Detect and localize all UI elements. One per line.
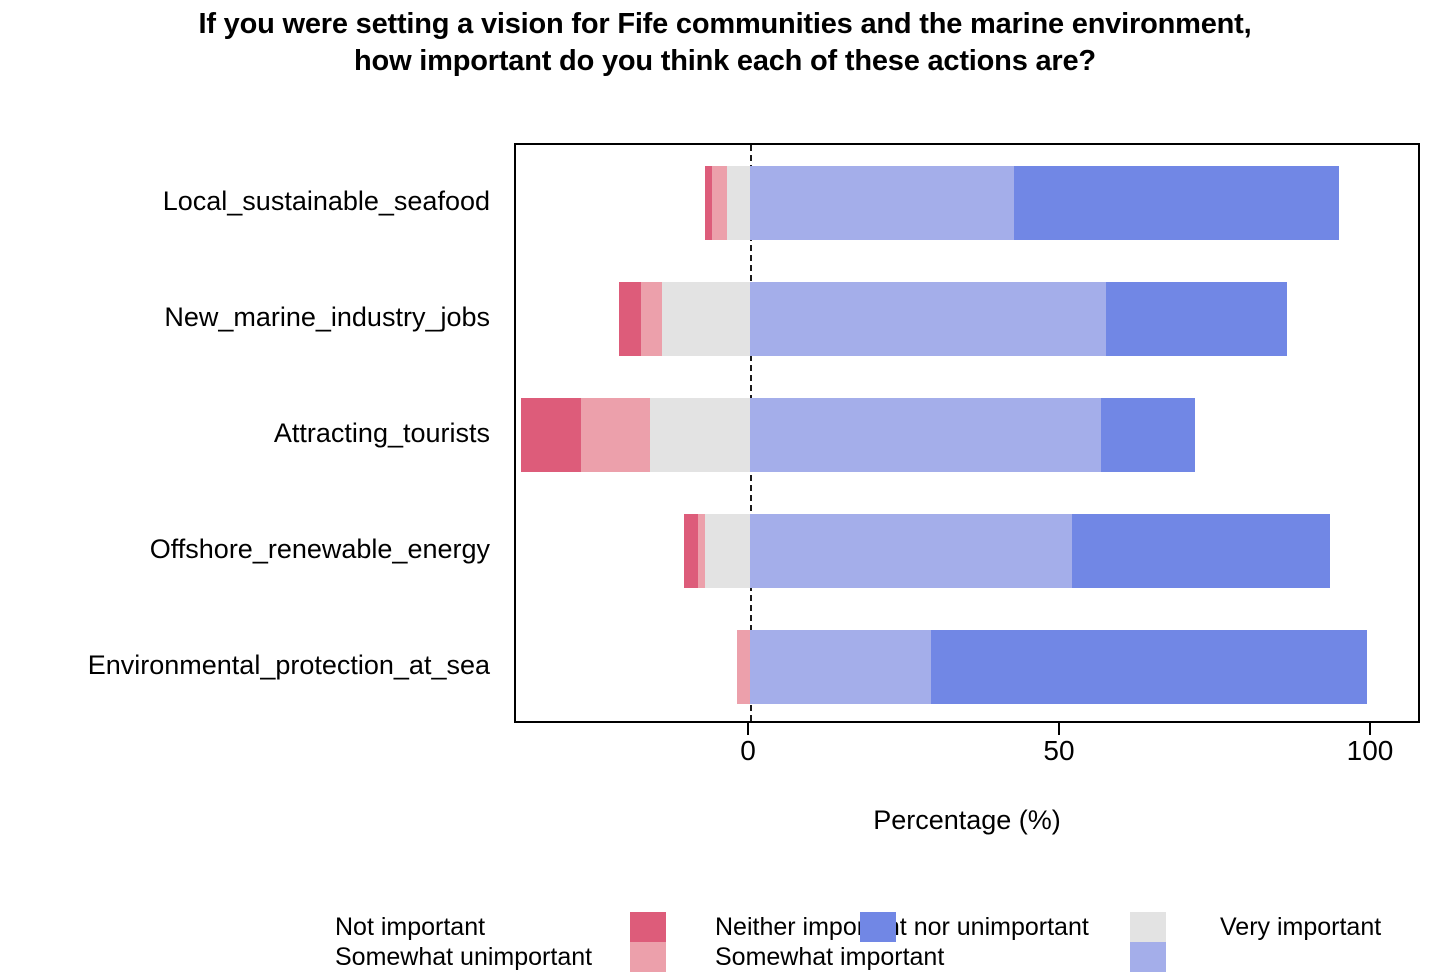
bar-segment (662, 282, 750, 356)
y-axis-tick-label: Offshore_renewable_energy (0, 536, 490, 563)
legend-color-swatch (630, 912, 666, 942)
legend-color-swatch (630, 942, 666, 972)
bar-segment (650, 398, 750, 472)
bar-segment (712, 166, 727, 240)
bar-segment (581, 398, 650, 472)
bar-segment (684, 514, 698, 588)
bar-row (516, 166, 1418, 240)
bar-segment (705, 166, 712, 240)
x-axis-tick-label: 0 (740, 737, 756, 765)
legend-color-swatch (860, 912, 896, 942)
bar-segment (698, 514, 705, 588)
x-axis-tick-mark (1369, 723, 1371, 735)
x-axis-tick-label: 100 (1347, 737, 1394, 765)
plot-panel (514, 143, 1420, 723)
bar-segment (619, 282, 641, 356)
legend-color-swatch (1130, 942, 1166, 972)
y-axis-tick-label: New_marine_industry_jobs (0, 304, 490, 331)
legend-label: Very important (1220, 915, 1381, 940)
bar-segment (705, 514, 750, 588)
legend-color-swatch (1130, 912, 1166, 942)
y-axis-tick-label: Environmental_protection_at_sea (0, 652, 490, 679)
bar-segment (750, 166, 1014, 240)
legend-label: Somewhat important (715, 945, 944, 970)
bar-segment (750, 514, 1072, 588)
title-line-1: If you were setting a vision for Fife co… (8, 6, 1442, 43)
bar-segment (1101, 398, 1195, 472)
bar-segment (1072, 514, 1330, 588)
y-axis-tick-label: Attracting_tourists (0, 420, 490, 447)
title-line-2: how important do you think each of these… (8, 43, 1442, 80)
bar-row (516, 514, 1418, 588)
bar-segment (641, 282, 663, 356)
y-axis-category-labels: Local_sustainable_seafoodNew_marine_indu… (0, 143, 500, 723)
plot-area (516, 145, 1418, 721)
bar-segment (727, 166, 750, 240)
legend-label: Neither important nor unimportant (715, 915, 1089, 940)
x-axis-tick-mark (1058, 723, 1060, 735)
bar-row (516, 398, 1418, 472)
x-axis-title: Percentage (%) (514, 805, 1420, 836)
x-axis-tick-mark (747, 723, 749, 735)
bar-segment (750, 630, 931, 704)
x-axis: 050100 (514, 723, 1420, 783)
bar-segment (750, 282, 1106, 356)
x-axis-tick-label: 50 (1043, 737, 1074, 765)
bar-segment (1106, 282, 1287, 356)
bar-segment (521, 398, 581, 472)
legend-label: Somewhat unimportant (335, 945, 592, 970)
page-title: If you were setting a vision for Fife co… (0, 6, 1450, 79)
bar-segment (1014, 166, 1339, 240)
bar-row (516, 630, 1418, 704)
legend-label: Not important (335, 915, 485, 940)
bar-segment (750, 398, 1101, 472)
bar-segment (737, 630, 750, 704)
chart-legend: Not importantSomewhat unimportantNeither… (335, 912, 1435, 974)
bar-row (516, 282, 1418, 356)
bar-segment (931, 630, 1367, 704)
y-axis-tick-label: Local_sustainable_seafood (0, 188, 490, 215)
